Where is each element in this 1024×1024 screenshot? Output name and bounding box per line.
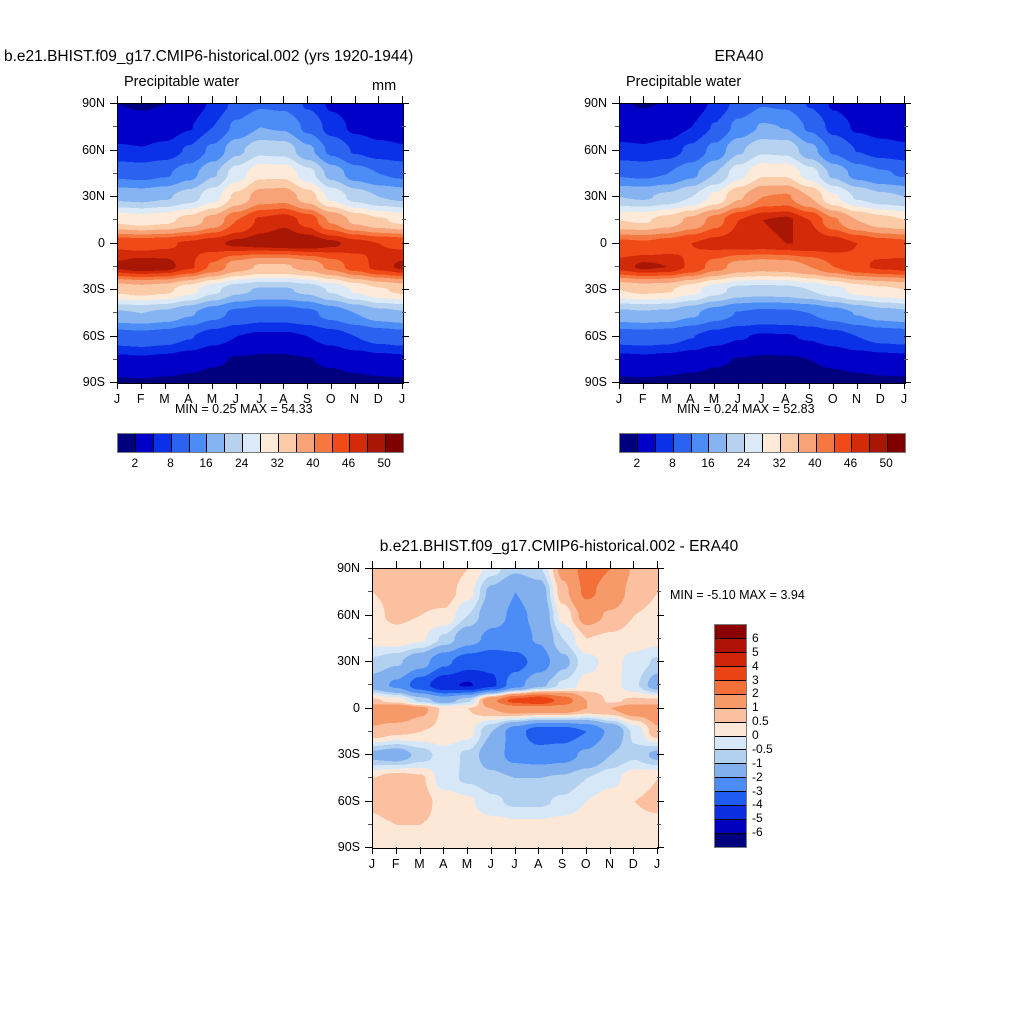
y-tick-major-right — [657, 847, 664, 848]
x-tick-top — [212, 96, 213, 103]
colorbar-segment — [118, 434, 136, 452]
y-axis-label: 30S — [83, 282, 105, 296]
x-tick-top — [491, 561, 492, 568]
x-tick-top — [586, 561, 587, 568]
model-colorbar[interactable] — [117, 433, 404, 453]
x-tick — [378, 382, 379, 389]
x-tick-top — [515, 561, 516, 568]
colorbar-tick-label: -4 — [752, 797, 763, 811]
precipitable-water-diagnostic-page: { "page": { "background": "#ffffff", "va… — [0, 0, 1024, 1024]
y-tick-major-right — [402, 243, 409, 244]
x-tick-top — [117, 96, 118, 103]
y-tick-major-right — [904, 243, 911, 244]
colorbar-segment — [799, 434, 817, 452]
y-tick-minor-right — [657, 731, 661, 732]
x-tick — [236, 382, 237, 389]
x-tick — [809, 382, 810, 389]
y-tick-major — [612, 243, 619, 244]
x-tick — [785, 382, 786, 389]
x-tick-top — [657, 561, 658, 568]
colorbar-tick-label: 40 — [306, 456, 319, 470]
model-panel-title: b.e21.BHIST.f09_g17.CMIP6-historical.002… — [4, 48, 413, 66]
colorbar-tick-label: -3 — [752, 784, 763, 798]
x-axis-label: D — [629, 857, 638, 871]
y-tick-major — [110, 336, 117, 337]
x-tick-top — [904, 96, 905, 103]
y-tick-major — [612, 289, 619, 290]
x-tick-top — [538, 561, 539, 568]
y-tick-minor — [113, 312, 117, 313]
y-tick-minor-right — [402, 219, 406, 220]
y-tick-minor-right — [904, 312, 908, 313]
y-tick-major-right — [402, 196, 409, 197]
x-axis-label: M — [661, 392, 671, 406]
colorbar-segment — [172, 434, 190, 452]
x-axis-label: J — [616, 392, 622, 406]
y-tick-major — [612, 382, 619, 383]
x-tick — [667, 382, 668, 389]
y-tick-major — [110, 150, 117, 151]
colorbar-tick-label: 5 — [752, 645, 759, 659]
colorbar-tick-label: 4 — [752, 659, 759, 673]
x-tick — [738, 382, 739, 389]
y-tick-minor-right — [904, 173, 908, 174]
x-tick-top — [690, 96, 691, 103]
colorbar-segment — [715, 709, 746, 723]
y-axis-label: 90N — [584, 96, 607, 110]
colorbar-segment — [835, 434, 853, 452]
x-tick-top — [141, 96, 142, 103]
y-tick-major — [612, 103, 619, 104]
x-axis-label: J — [369, 857, 375, 871]
x-axis-label: O — [828, 392, 838, 406]
colorbar-tick-label: 50 — [880, 456, 893, 470]
colorbar-segment — [656, 434, 674, 452]
x-tick — [355, 382, 356, 389]
y-axis-label: 0 — [600, 236, 607, 250]
x-tick-top — [643, 96, 644, 103]
y-tick-major-right — [402, 336, 409, 337]
x-axis-label: F — [639, 392, 647, 406]
x-axis-label: J — [399, 392, 405, 406]
y-tick-major — [365, 754, 372, 755]
x-tick-top — [372, 561, 373, 568]
colorbar-tick-label: 16 — [199, 456, 212, 470]
y-tick-minor — [615, 312, 619, 313]
x-axis-label: D — [876, 392, 885, 406]
colorbar-tick-label: -1 — [752, 756, 763, 770]
obs-panel-title: ERA40 — [714, 48, 763, 66]
x-axis-label: J — [654, 857, 660, 871]
y-tick-major-right — [904, 103, 911, 104]
colorbar-segment — [638, 434, 656, 452]
x-tick — [331, 382, 332, 389]
y-tick-major — [365, 568, 372, 569]
colorbar-tick-label: 8 — [167, 456, 174, 470]
x-tick-top — [762, 96, 763, 103]
y-tick-minor — [368, 777, 372, 778]
y-tick-minor — [615, 126, 619, 127]
colorbar-tick-label: 24 — [235, 456, 248, 470]
y-axis-label: 90S — [338, 840, 360, 854]
colorbar-segment — [368, 434, 386, 452]
colorbar-tick-label: 0.5 — [752, 714, 769, 728]
y-tick-major-right — [904, 382, 911, 383]
x-tick — [260, 382, 261, 389]
x-axis-label: N — [605, 857, 614, 871]
colorbar-tick-label: 3 — [752, 673, 759, 687]
x-tick — [372, 847, 373, 854]
colorbar-segment — [715, 695, 746, 709]
y-tick-minor — [615, 266, 619, 267]
x-axis-label: O — [581, 857, 591, 871]
model-axes: 90N60N30N030S60S90SJFMAMJJASONDJ — [117, 103, 402, 382]
colorbar-tick-label: -0.5 — [752, 742, 773, 756]
x-tick-top — [785, 96, 786, 103]
colorbar-tick-label: 0 — [752, 728, 759, 742]
model-variable-label: Precipitable water — [124, 74, 239, 90]
x-tick — [833, 382, 834, 389]
y-axis-label: 60S — [338, 794, 360, 808]
x-tick — [515, 847, 516, 854]
obs-stats: MIN = 0.24 MAX = 52.83 — [677, 402, 815, 416]
x-tick-top — [420, 561, 421, 568]
colorbar-tick-label: 2 — [633, 456, 640, 470]
y-tick-major-right — [402, 382, 409, 383]
colorbar-segment — [190, 434, 208, 452]
colorbar-segment — [715, 764, 746, 778]
model-colorbar-labels: 28162432404650 — [117, 456, 402, 472]
x-tick-top — [857, 96, 858, 103]
colorbar-tick-label: 40 — [808, 456, 821, 470]
y-tick-major-right — [904, 196, 911, 197]
y-axis-label: 0 — [98, 236, 105, 250]
colorbar-segment — [154, 434, 172, 452]
colorbar-segment — [333, 434, 351, 452]
colorbar-segment — [781, 434, 799, 452]
x-tick-top — [833, 96, 834, 103]
x-axis-label: J — [511, 857, 517, 871]
y-axis-label: 0 — [353, 701, 360, 715]
y-tick-major-right — [657, 801, 664, 802]
y-axis-label: 60N — [337, 608, 360, 622]
y-tick-minor-right — [657, 777, 661, 778]
y-tick-minor-right — [657, 824, 661, 825]
x-axis-label: J — [901, 392, 907, 406]
colorbar-segment — [715, 653, 746, 667]
colorbar-segment — [852, 434, 870, 452]
x-tick — [586, 847, 587, 854]
x-tick-top — [188, 96, 189, 103]
colorbar-segment — [763, 434, 781, 452]
colorbar-tick-label: 46 — [844, 456, 857, 470]
colorbar-segment — [620, 434, 638, 452]
x-tick — [141, 382, 142, 389]
y-axis-label: 30S — [338, 747, 360, 761]
colorbar-segment — [709, 434, 727, 452]
colorbar-segment — [715, 792, 746, 806]
x-tick — [396, 847, 397, 854]
colorbar-segment — [715, 625, 746, 639]
x-axis-label: J — [114, 392, 120, 406]
colorbar-segment — [207, 434, 225, 452]
x-tick-top — [619, 96, 620, 103]
y-tick-major — [365, 801, 372, 802]
y-tick-major — [110, 103, 117, 104]
colorbar-tick-label: 1 — [752, 700, 759, 714]
x-tick-top — [402, 96, 403, 103]
y-tick-minor-right — [402, 266, 406, 267]
y-tick-major — [365, 615, 372, 616]
y-axis-label: 90S — [83, 375, 105, 389]
y-tick-minor-right — [904, 359, 908, 360]
model-units-label: mm — [372, 78, 396, 94]
x-tick — [212, 382, 213, 389]
y-axis-label: 90S — [585, 375, 607, 389]
diff-colorbar-labels: 6543210.50-0.5-1-2-3-4-5-6 — [750, 624, 810, 846]
diff-axes: 90N60N30N030S60S90SJFMAMJJASONDJ — [372, 568, 657, 847]
x-tick-top — [809, 96, 810, 103]
colorbar-segment — [715, 667, 746, 681]
x-tick — [562, 847, 563, 854]
diff-panel-title: b.e21.BHIST.f09_g17.CMIP6-historical.002… — [380, 538, 738, 556]
x-tick-top — [714, 96, 715, 103]
colorbar-segment — [715, 820, 746, 834]
y-tick-minor — [615, 219, 619, 220]
y-tick-major — [365, 847, 372, 848]
y-tick-major-right — [904, 150, 911, 151]
y-tick-minor-right — [904, 126, 908, 127]
y-axis-label: 90N — [337, 561, 360, 575]
x-tick — [690, 382, 691, 389]
x-tick-top — [396, 561, 397, 568]
y-tick-major-right — [402, 289, 409, 290]
x-tick-top — [562, 561, 563, 568]
y-tick-minor-right — [904, 266, 908, 267]
colorbar-tick-label: 32 — [773, 456, 786, 470]
y-tick-minor — [368, 824, 372, 825]
x-axis-label: M — [414, 857, 424, 871]
diff-colorbar[interactable] — [714, 624, 747, 848]
y-tick-minor-right — [402, 126, 406, 127]
colorbar-segment — [136, 434, 154, 452]
colorbar-segment — [727, 434, 745, 452]
x-tick-top — [165, 96, 166, 103]
x-tick — [165, 382, 166, 389]
y-tick-major — [612, 150, 619, 151]
colorbar-segment — [745, 434, 763, 452]
x-tick — [117, 382, 118, 389]
x-tick — [491, 847, 492, 854]
x-tick — [880, 382, 881, 389]
y-tick-major-right — [657, 754, 664, 755]
y-tick-major — [110, 243, 117, 244]
x-tick — [307, 382, 308, 389]
colorbar-segment — [715, 778, 746, 792]
y-tick-minor — [368, 638, 372, 639]
colorbar-tick-label: 46 — [342, 456, 355, 470]
y-tick-minor — [113, 173, 117, 174]
colorbar-segment — [692, 434, 710, 452]
model-stats: MIN = 0.25 MAX = 54.33 — [175, 402, 313, 416]
x-axis-label: D — [374, 392, 383, 406]
y-axis-label: 30N — [82, 189, 105, 203]
x-tick-top — [260, 96, 261, 103]
y-tick-major — [110, 196, 117, 197]
y-axis-label: 90N — [82, 96, 105, 110]
y-tick-major-right — [657, 661, 664, 662]
x-tick-top — [880, 96, 881, 103]
y-tick-minor — [368, 731, 372, 732]
x-tick-top — [307, 96, 308, 103]
x-tick — [857, 382, 858, 389]
x-tick — [633, 847, 634, 854]
x-axis-label: M — [159, 392, 169, 406]
colorbar-segment — [817, 434, 835, 452]
x-axis-label: F — [392, 857, 400, 871]
colorbar-segment — [715, 834, 746, 847]
x-tick-top — [633, 561, 634, 568]
colorbar-tick-label: -2 — [752, 770, 763, 784]
y-tick-major — [110, 289, 117, 290]
y-tick-minor-right — [657, 591, 661, 592]
y-axis-label: 60S — [83, 329, 105, 343]
obs-variable-label: Precipitable water — [626, 74, 741, 90]
y-tick-major-right — [904, 289, 911, 290]
x-tick-top — [283, 96, 284, 103]
x-tick — [904, 382, 905, 389]
x-tick — [467, 847, 468, 854]
x-tick-top — [331, 96, 332, 103]
y-tick-major-right — [657, 568, 664, 569]
y-tick-minor-right — [402, 173, 406, 174]
y-tick-major-right — [402, 150, 409, 151]
y-tick-major-right — [904, 336, 911, 337]
y-tick-major — [110, 382, 117, 383]
y-tick-minor-right — [657, 638, 661, 639]
x-axis-label: N — [852, 392, 861, 406]
x-tick — [420, 847, 421, 854]
y-axis-label: 30S — [585, 282, 607, 296]
x-tick-top — [610, 561, 611, 568]
x-tick — [762, 382, 763, 389]
y-axis-label: 30N — [584, 189, 607, 203]
x-tick — [643, 382, 644, 389]
colorbar-segment — [225, 434, 243, 452]
x-tick — [610, 847, 611, 854]
y-tick-major-right — [657, 615, 664, 616]
x-tick — [619, 382, 620, 389]
x-tick — [188, 382, 189, 389]
y-axis-label: 60N — [82, 143, 105, 157]
x-axis-label: N — [350, 392, 359, 406]
y-tick-minor — [113, 359, 117, 360]
x-tick — [443, 847, 444, 854]
y-tick-minor — [113, 266, 117, 267]
y-tick-major — [612, 196, 619, 197]
colorbar-tick-label: 6 — [752, 631, 759, 645]
x-tick-top — [667, 96, 668, 103]
x-axis-label: A — [534, 857, 542, 871]
y-tick-major — [612, 336, 619, 337]
colorbar-segment — [715, 639, 746, 653]
y-tick-minor — [113, 219, 117, 220]
colorbar-tick-label: -5 — [752, 811, 763, 825]
colorbar-tick-label: -6 — [752, 825, 763, 839]
colorbar-tick-label: 2 — [131, 456, 138, 470]
y-axis-label: 60N — [584, 143, 607, 157]
colorbar-tick-label: 16 — [701, 456, 714, 470]
x-tick — [402, 382, 403, 389]
y-tick-major — [365, 661, 372, 662]
colorbar-tick-label: 50 — [378, 456, 391, 470]
x-tick — [714, 382, 715, 389]
x-tick-top — [378, 96, 379, 103]
x-tick-top — [236, 96, 237, 103]
y-tick-minor — [368, 591, 372, 592]
x-axis-label: A — [439, 857, 447, 871]
diff-stats: MIN = -5.10 MAX = 3.94 — [670, 588, 805, 602]
obs-axes: 90N60N30N030S60S90SJFMAMJJASONDJ — [619, 103, 904, 382]
colorbar-segment — [674, 434, 692, 452]
x-tick — [538, 847, 539, 854]
colorbar-tick-label: 24 — [737, 456, 750, 470]
obs-colorbar-labels: 28162432404650 — [619, 456, 904, 472]
colorbar-segment — [243, 434, 261, 452]
x-axis-label: F — [137, 392, 145, 406]
y-tick-minor — [615, 359, 619, 360]
colorbar-segment — [715, 723, 746, 737]
y-tick-minor — [368, 684, 372, 685]
colorbar-segment — [715, 737, 746, 751]
x-tick-top — [467, 561, 468, 568]
x-axis-label: S — [558, 857, 566, 871]
colorbar-segment — [888, 434, 905, 452]
y-tick-minor — [615, 173, 619, 174]
colorbar-segment — [715, 681, 746, 695]
x-tick — [657, 847, 658, 854]
y-tick-minor-right — [904, 219, 908, 220]
y-tick-major-right — [402, 103, 409, 104]
obs-colorbar[interactable] — [619, 433, 906, 453]
x-axis-label: M — [462, 857, 472, 871]
x-tick — [283, 382, 284, 389]
x-tick-top — [355, 96, 356, 103]
colorbar-segment — [279, 434, 297, 452]
y-axis-label: 60S — [585, 329, 607, 343]
colorbar-segment — [315, 434, 333, 452]
colorbar-segment — [715, 750, 746, 764]
y-tick-minor-right — [402, 312, 406, 313]
colorbar-segment — [870, 434, 888, 452]
y-axis-label: 30N — [337, 654, 360, 668]
colorbar-tick-label: 2 — [752, 686, 759, 700]
colorbar-tick-label: 8 — [669, 456, 676, 470]
colorbar-segment — [350, 434, 368, 452]
y-tick-minor — [113, 126, 117, 127]
x-axis-label: J — [488, 857, 494, 871]
colorbar-segment — [297, 434, 315, 452]
x-axis-label: O — [326, 392, 336, 406]
x-tick-top — [738, 96, 739, 103]
y-tick-minor-right — [402, 359, 406, 360]
x-tick-top — [443, 561, 444, 568]
y-tick-major — [365, 708, 372, 709]
colorbar-tick-label: 32 — [271, 456, 284, 470]
colorbar-segment — [715, 806, 746, 820]
colorbar-segment — [261, 434, 279, 452]
y-tick-minor-right — [657, 684, 661, 685]
